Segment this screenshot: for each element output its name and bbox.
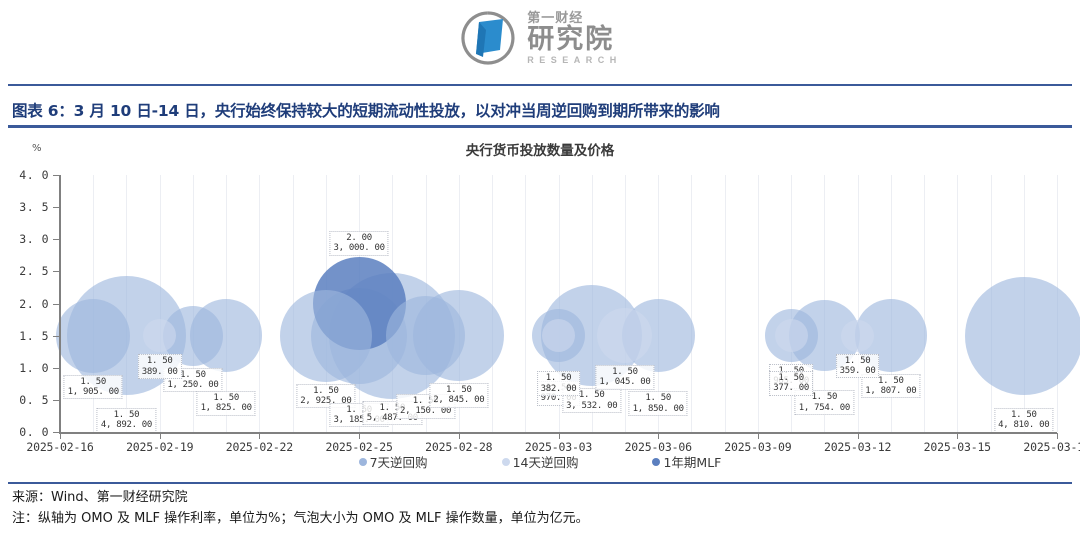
x-axis-tick xyxy=(160,433,161,439)
data-label: 1. 504, 892. 00 xyxy=(97,408,156,433)
x-axis-tick xyxy=(858,433,859,439)
figure-caption: 图表 6：3 月 10 日-14 日，央行始终保持较大的短期流动性投放，以对冲当… xyxy=(12,99,1072,121)
data-label-rate: 1. 50 xyxy=(633,393,684,403)
data-label-rate: 1. 50 xyxy=(142,356,178,366)
gridline-vertical xyxy=(525,175,526,432)
data-label-amount: 1, 905. 00 xyxy=(68,387,119,397)
data-label: 1. 502, 845. 00 xyxy=(429,383,488,408)
legend-item[interactable]: 7天逆回购 xyxy=(359,452,428,471)
y-axis-tick xyxy=(53,432,59,433)
data-label: 1. 50382. 00 xyxy=(537,371,581,396)
data-label-rate: 1. 50 xyxy=(433,385,484,395)
data-bubble xyxy=(775,319,808,352)
data-label-rate: 1. 50 xyxy=(68,377,119,387)
y-axis-tick xyxy=(53,304,59,305)
y-axis-tick-label: 0. 0 xyxy=(19,425,49,439)
legend-marker-icon xyxy=(359,458,367,466)
data-label-rate: 1. 50 xyxy=(541,373,577,383)
data-label-amount: 377. 00 xyxy=(773,383,809,393)
gridline-vertical xyxy=(858,175,859,432)
gridline-vertical xyxy=(957,175,958,432)
source-line: 来源：Wind、第一财经研究院 xyxy=(12,487,1072,508)
data-label: 1. 501, 825. 00 xyxy=(197,391,256,416)
data-label: 1. 501, 905. 00 xyxy=(64,375,123,400)
data-label: 1. 50389. 00 xyxy=(138,354,182,379)
data-label-amount: 382. 00 xyxy=(541,384,577,394)
data-label-rate: 2. 00 xyxy=(334,233,385,243)
header-divider xyxy=(8,84,1072,86)
y-axis-tick xyxy=(53,175,59,176)
y-axis-tick-label: 3. 0 xyxy=(19,232,49,246)
data-label: 1. 501, 045. 00 xyxy=(595,365,654,390)
legend-item[interactable]: 14天逆回购 xyxy=(502,452,579,471)
first-financial-research-logo-icon xyxy=(458,8,518,68)
gridline-vertical xyxy=(758,175,759,432)
data-label-amount: 1, 045. 00 xyxy=(599,377,650,387)
x-axis-tick xyxy=(60,433,61,439)
gridline-vertical xyxy=(492,175,493,432)
gridline-vertical xyxy=(259,175,260,432)
x-axis-tick xyxy=(559,433,560,439)
data-label-rate: 1. 50 xyxy=(300,386,351,396)
page-header: 第一财经 研究院 RESEARCH xyxy=(0,0,1080,76)
data-label-amount: 389. 00 xyxy=(142,367,178,377)
data-label-amount: 1, 250. 00 xyxy=(167,380,218,390)
data-label: 1. 501, 850. 00 xyxy=(629,391,688,416)
data-bubble xyxy=(841,320,873,352)
brand-name-small: 第一财经 xyxy=(527,12,622,25)
data-bubble xyxy=(56,299,130,373)
data-bubble xyxy=(386,296,465,375)
data-label-amount: 3, 532. 00 xyxy=(566,401,617,411)
brand-logo: 第一财经 研究院 RESEARCH xyxy=(458,8,622,68)
data-label-rate: 1. 50 xyxy=(101,410,152,420)
gridline-vertical xyxy=(193,175,194,432)
gridline-vertical xyxy=(924,175,925,432)
brand-text: 第一财经 研究院 RESEARCH xyxy=(527,12,622,65)
legend-label: 14天逆回购 xyxy=(513,452,579,471)
data-label-amount: 3, 000. 00 xyxy=(334,243,385,253)
y-axis-tick-label: 0. 5 xyxy=(19,393,49,407)
x-axis-tick xyxy=(359,433,360,439)
legend-marker-icon xyxy=(502,458,510,466)
y-axis-tick xyxy=(53,400,59,401)
y-axis-unit-label: % xyxy=(32,143,42,154)
y-axis-tick-label: 1. 5 xyxy=(19,329,49,343)
x-axis-tick xyxy=(1057,433,1058,439)
data-label-rate: 1. 50 xyxy=(599,367,650,377)
x-axis-tick xyxy=(259,433,260,439)
figure-page: 第一财经 研究院 RESEARCH 图表 6：3 月 10 日-14 日，央行始… xyxy=(0,0,1080,538)
y-axis-tick xyxy=(53,368,59,369)
chart-legend: 7天逆回购14天逆回购1年期MLF xyxy=(0,452,1080,471)
legend-item[interactable]: 1年期MLF xyxy=(652,452,721,471)
note-line: 注：纵轴为 OMO 及 MLF 操作利率，单位为%；气泡大小为 OMO 及 ML… xyxy=(12,508,1072,529)
data-label-amount: 4, 810. 00 xyxy=(998,420,1049,430)
y-axis-tick xyxy=(53,207,59,208)
caption-divider xyxy=(8,125,1072,128)
data-label: 1. 504, 810. 00 xyxy=(994,408,1053,433)
brand-name-large: 研究院 xyxy=(527,26,622,53)
x-axis-tick xyxy=(957,433,958,439)
chart-container: 央行货币投放数量及价格 % 1. 501, 905. 001. 504, 892… xyxy=(0,131,1080,479)
plot-area: 1. 501, 905. 001. 504, 892. 001. 501, 25… xyxy=(60,175,1057,432)
data-label-amount: 1, 807. 00 xyxy=(865,386,916,396)
x-axis-tick xyxy=(758,433,759,439)
data-bubble xyxy=(280,290,372,382)
y-axis-tick-label: 2. 5 xyxy=(19,264,49,278)
data-label-rate: 1. 50 xyxy=(201,393,252,403)
data-label: 1. 50359. 00 xyxy=(836,354,880,379)
data-label-rate: 1. 50 xyxy=(840,356,876,366)
data-label: 2. 003, 000. 00 xyxy=(330,231,389,256)
legend-label: 1年期MLF xyxy=(663,452,721,471)
data-label-amount: 1, 754. 00 xyxy=(799,403,850,413)
y-axis-tick-label: 2. 0 xyxy=(19,297,49,311)
data-label-amount: 1, 850. 00 xyxy=(633,404,684,414)
legend-marker-icon xyxy=(652,458,660,466)
y-axis-tick xyxy=(53,336,59,337)
x-axis-tick xyxy=(459,433,460,439)
y-axis-tick xyxy=(53,239,59,240)
gridline-vertical xyxy=(725,175,726,432)
data-label-amount: 2, 150. 00 xyxy=(400,406,451,416)
legend-label: 7天逆回购 xyxy=(370,452,428,471)
data-label-amount: 2, 845. 00 xyxy=(433,395,484,405)
footer-divider xyxy=(8,482,1072,484)
data-label-amount: 359. 00 xyxy=(840,366,876,376)
y-axis-tick-label: 4. 0 xyxy=(19,168,49,182)
gridline-vertical xyxy=(691,175,692,432)
y-axis-tick-label: 1. 0 xyxy=(19,361,49,375)
chart-title: 央行货币投放数量及价格 xyxy=(0,139,1080,159)
data-label-amount: 4, 892. 00 xyxy=(101,420,152,430)
brand-name-english: RESEARCH xyxy=(527,56,622,65)
data-label-rate: 1. 50 xyxy=(998,410,1049,420)
data-bubble xyxy=(965,277,1080,395)
data-label: 1. 50377. 00 xyxy=(769,371,813,396)
figure-footer: 来源：Wind、第一财经研究院 注：纵轴为 OMO 及 MLF 操作利率，单位为… xyxy=(12,487,1072,530)
data-label-amount: 1, 825. 00 xyxy=(201,403,252,413)
y-axis-tick-label: 3. 5 xyxy=(19,200,49,214)
y-axis-tick xyxy=(53,271,59,272)
y-axis-line xyxy=(59,175,61,433)
data-label-rate: 1. 50 xyxy=(773,373,809,383)
x-axis-tick xyxy=(658,433,659,439)
